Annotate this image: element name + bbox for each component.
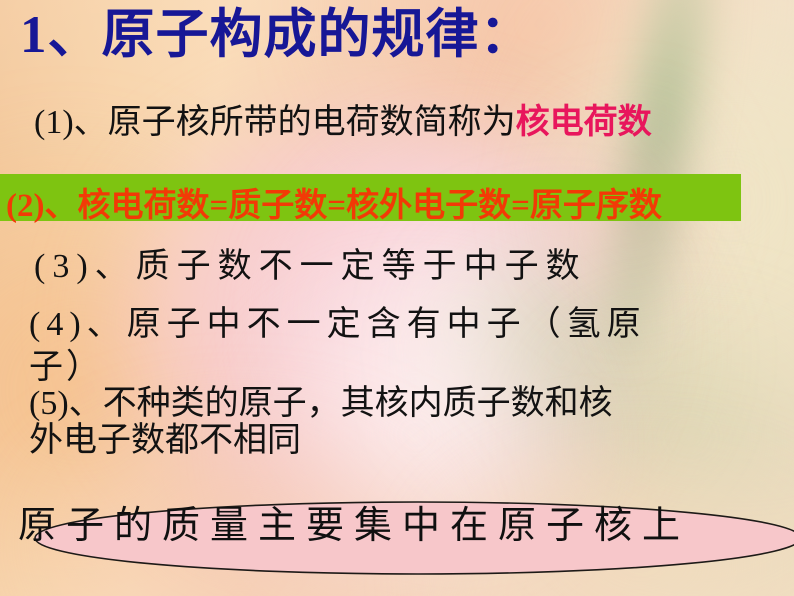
- bullet-item-2: (2)、核电荷数=质子数=核外电子数=原子序数: [6, 178, 662, 226]
- bullet-item-3: (3)、质子数不一定等于中子数: [34, 248, 587, 286]
- bullet-3-text: 质子数不一定等于中子数: [136, 248, 587, 285]
- bullet-2-text: 核电荷数=质子数=核外电子数=原子序数: [77, 188, 661, 224]
- bullet-1-marker: (1)、: [34, 104, 108, 141]
- bullet-item-4-wrap: 子）: [29, 349, 103, 387]
- bullet-item-5: (5)、不种类的原子，其核内质子数和核: [29, 385, 613, 423]
- bullet-4-marker: (4)、: [29, 306, 127, 343]
- conclusion-text: 原子的质量主要集中在原子核上: [18, 506, 690, 548]
- bullet-5-text: 不种类的原子，其核内质子数和核: [103, 385, 613, 422]
- bullet-4-text: 原子中不一定含有中子（氢原: [127, 306, 647, 343]
- bullet-item-4: (4)、原子中不一定含有中子（氢原: [29, 306, 647, 344]
- bullet-2-marker: (2)、: [6, 188, 77, 224]
- bullet-item-1: (1)、原子核所带的电荷数简称为核电荷数: [34, 104, 652, 142]
- bullet-1-text: 原子核所带的电荷数简称为: [108, 104, 516, 141]
- bullet-3-marker: (3)、: [34, 248, 136, 285]
- slide-title: 1、原子构成的规律：: [20, 6, 534, 65]
- bullet-1-highlight-term: 核电荷数: [516, 104, 652, 141]
- slide-canvas: 1、原子构成的规律： (1)、原子核所带的电荷数简称为核电荷数 (2)、核电荷数…: [0, 0, 794, 596]
- slide-content: 1、原子构成的规律： (1)、原子核所带的电荷数简称为核电荷数 (2)、核电荷数…: [0, 0, 794, 596]
- bullet-5-marker: (5)、: [29, 385, 103, 422]
- bullet-item-5-wrap: 外电子数都不相同: [29, 422, 301, 460]
